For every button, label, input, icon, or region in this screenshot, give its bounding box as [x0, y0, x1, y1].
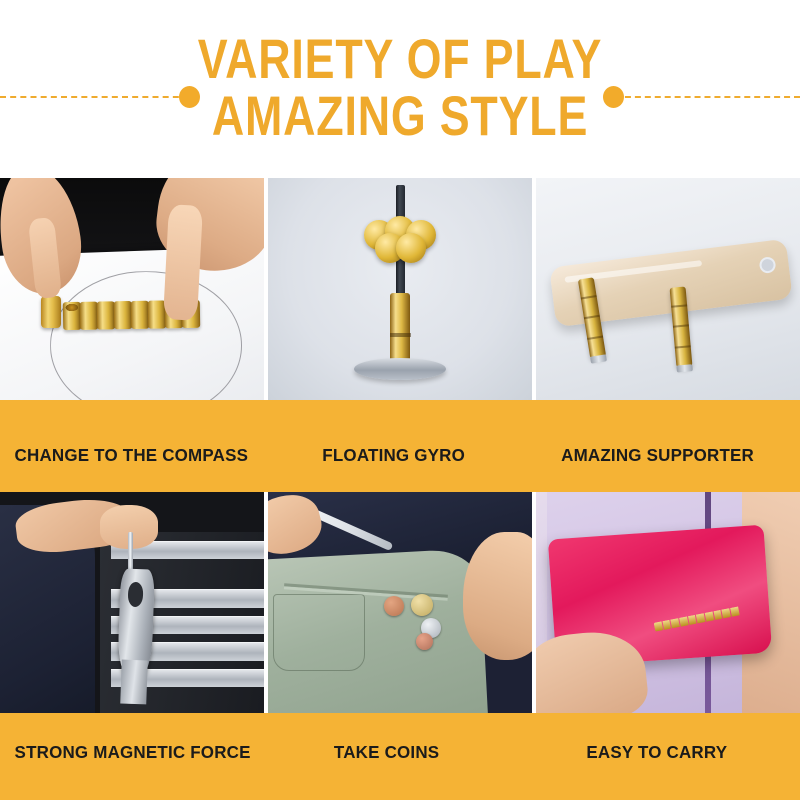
coin-icon — [384, 596, 404, 616]
magnetic-force-photo — [0, 492, 264, 713]
easy-to-carry-photo — [536, 492, 800, 713]
caption-cell-supporter: AMAZING SUPPORTER — [533, 400, 800, 492]
phone-supporter-photo — [536, 178, 800, 400]
header-banner: VARIETY OF PLAY AMAZING STYLE — [0, 0, 800, 178]
gyro-head-icon — [364, 216, 436, 264]
caption-label: AMAZING SUPPORTER — [533, 445, 754, 466]
floating-gyro-photo — [268, 178, 532, 400]
caption-label: STRONG MAGNETIC FORCE — [0, 742, 251, 763]
caption-label: EASY TO CARRY — [533, 742, 727, 763]
gold-tube-icon — [390, 293, 410, 364]
page-title: VARIETY OF PLAY AMAZING STYLE — [0, 32, 800, 143]
caption-bar-row-1: CHANGE TO THE COMPASS FLOATING GYRO AMAZ… — [0, 400, 800, 492]
caption-cell-magnetic-force: STRONG MAGNETIC FORCE — [0, 713, 267, 800]
compass-drawing-photo — [0, 178, 264, 400]
caption-label: CHANGE TO THE COMPASS — [0, 445, 248, 466]
compass-scene — [0, 178, 264, 400]
title-line-2: AMAZING STYLE — [80, 89, 720, 143]
easy-to-carry-scene — [536, 492, 800, 713]
caption-label: TAKE COINS — [267, 742, 439, 763]
magnet-clip-icon — [653, 606, 740, 631]
magnetic-force-scene — [0, 492, 264, 713]
caption-cell-compass: CHANGE TO THE COMPASS — [0, 400, 267, 492]
magnet-hub-icon — [41, 296, 61, 328]
metal-base-icon — [354, 358, 446, 380]
coin-icon — [411, 594, 433, 616]
caption-cell-easy-to-carry: EASY TO CARRY — [533, 713, 800, 800]
take-coins-scene — [268, 492, 532, 713]
caption-label: FLOATING GYRO — [267, 445, 465, 466]
photo-row-2 — [0, 492, 800, 713]
take-coins-photo — [268, 492, 532, 713]
gyro-scene — [268, 178, 532, 400]
product-feature-infographic: VARIETY OF PLAY AMAZING STYLE — [0, 0, 800, 800]
title-line-1: VARIETY OF PLAY — [80, 32, 720, 86]
supporter-scene — [536, 178, 800, 400]
caption-bar-row-2: STRONG MAGNETIC FORCE TAKE COINS EASY TO… — [0, 713, 800, 800]
caption-cell-take-coins: TAKE COINS — [267, 713, 534, 800]
photo-row-1 — [0, 178, 800, 400]
caption-cell-gyro: FLOATING GYRO — [267, 400, 534, 492]
